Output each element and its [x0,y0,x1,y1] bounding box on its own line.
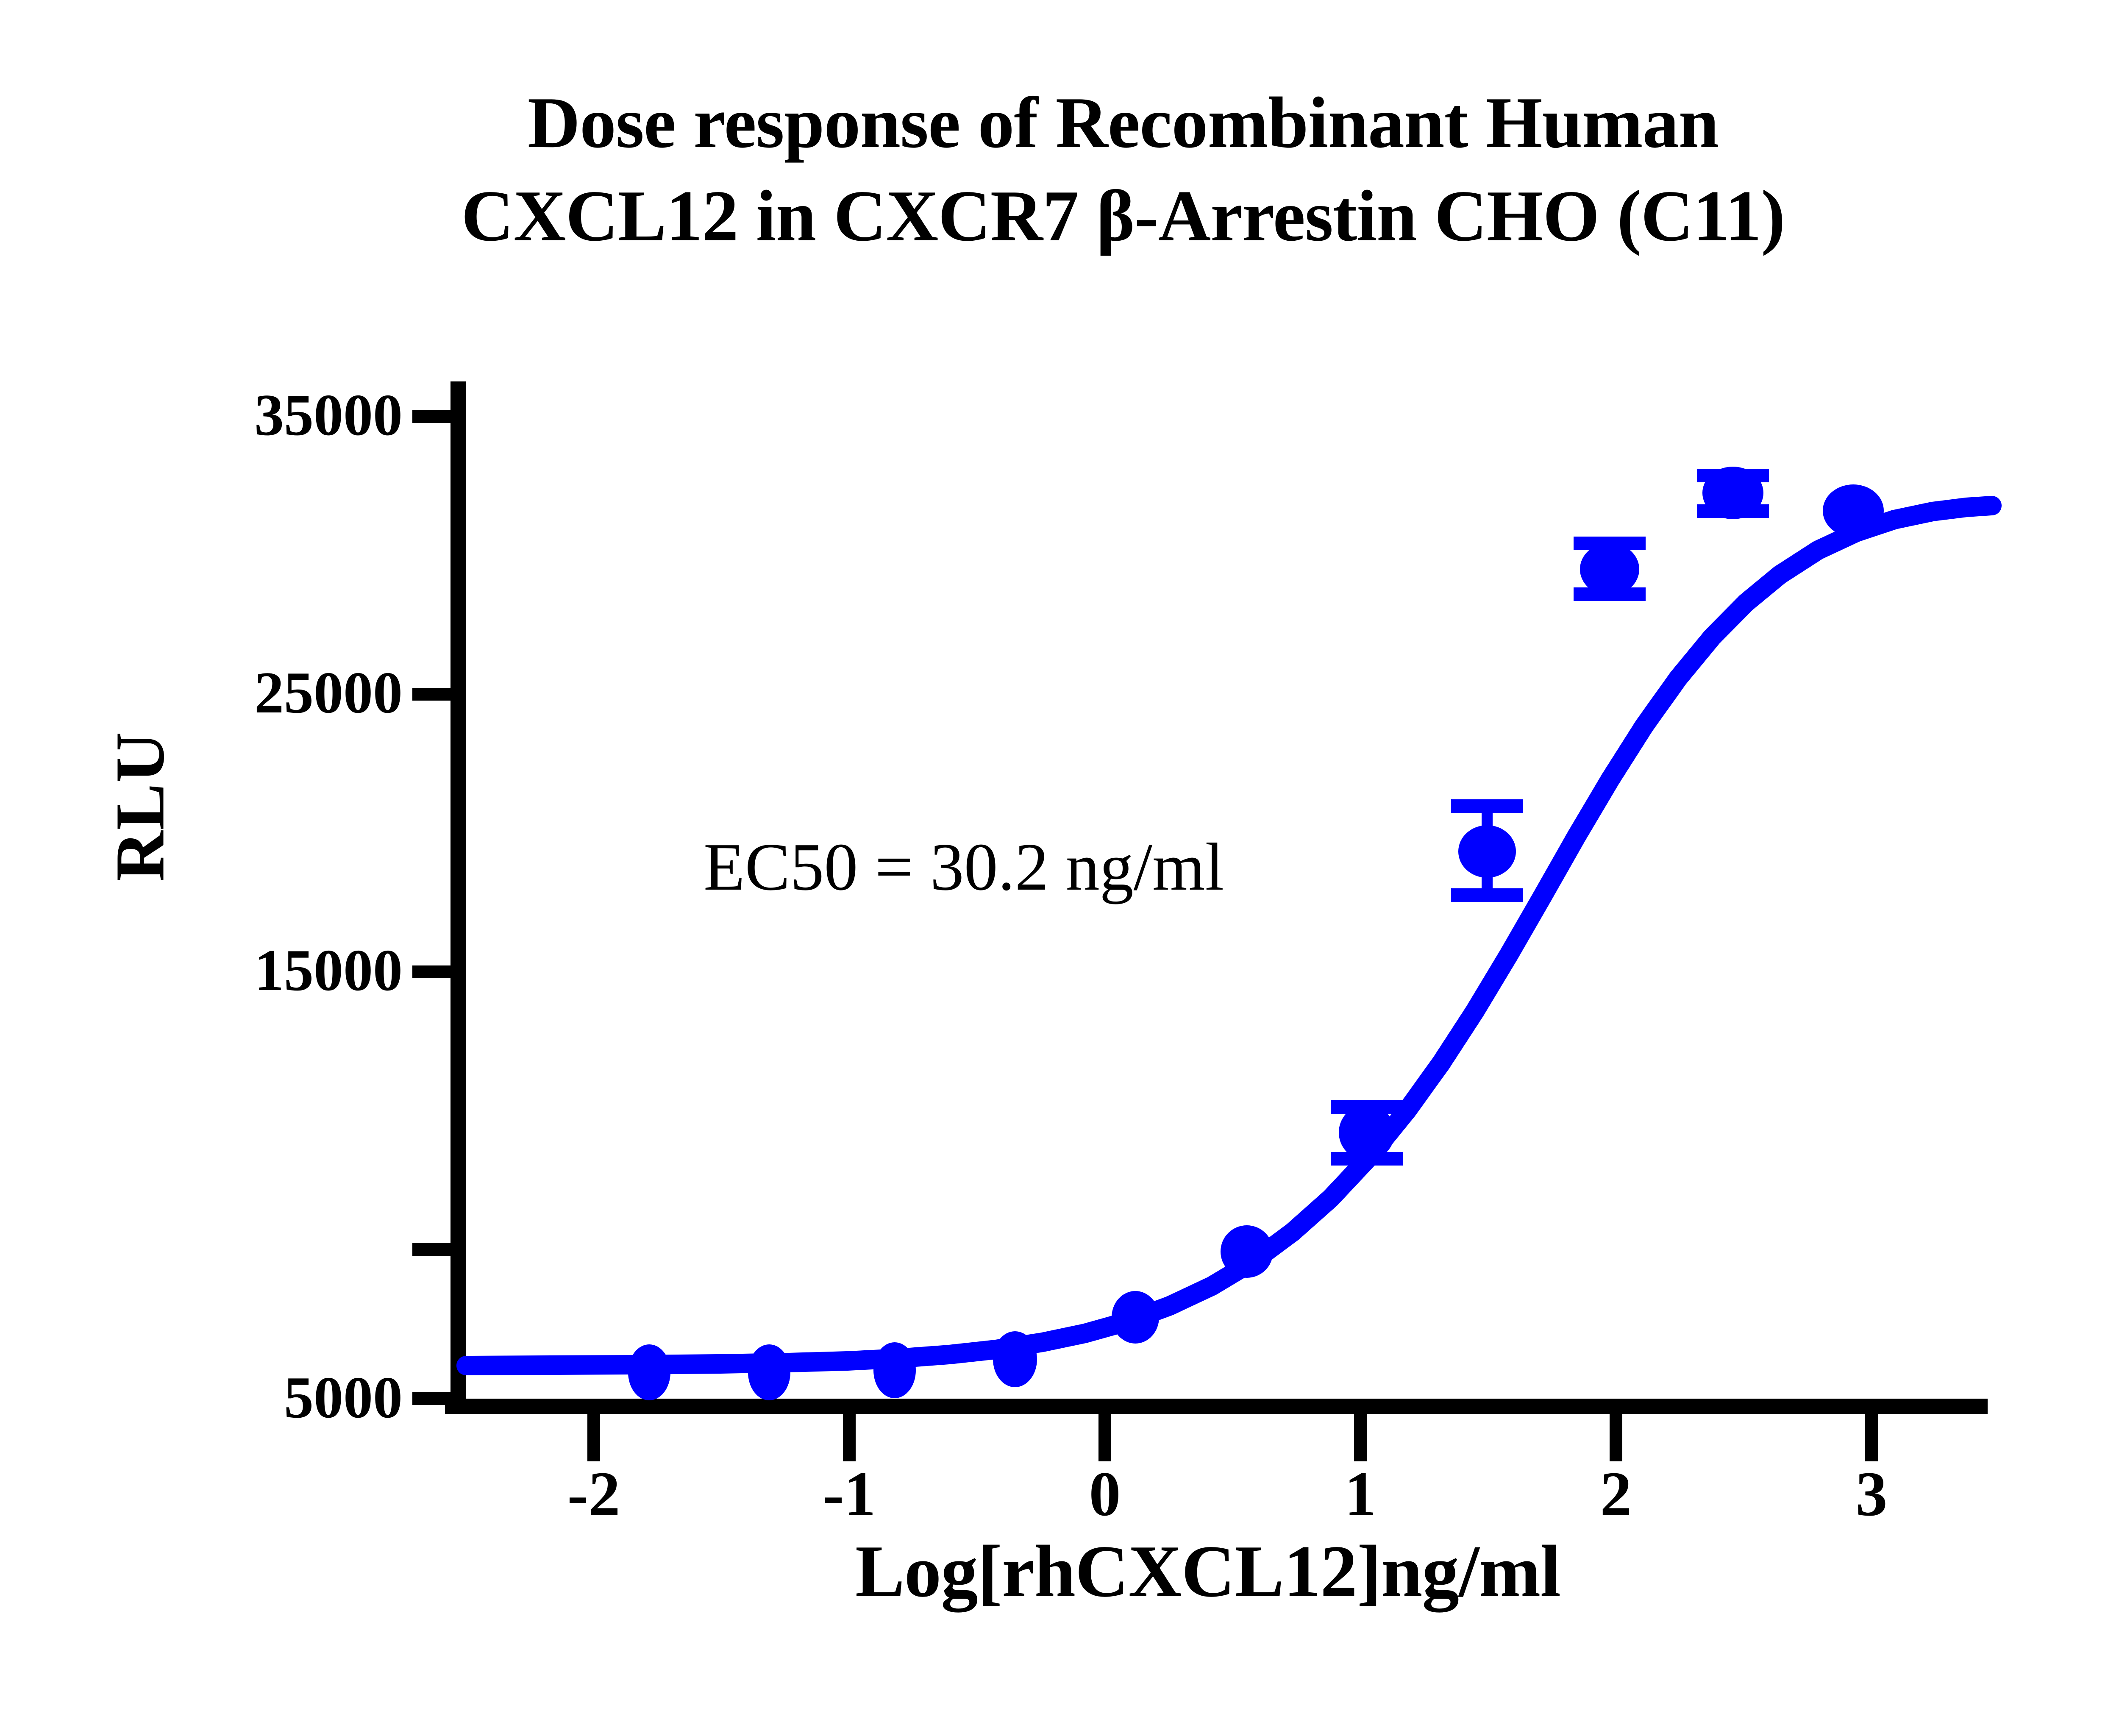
x-tick-label-0: 0 [1041,1462,1168,1526]
x-axis-title: Log[rhCXCL12]ng/ml [424,1534,1992,1608]
x-tick-label-1: 1 [1297,1462,1424,1526]
data-point [628,1344,670,1400]
data-point [1702,467,1763,519]
x-tick-label-neg1: -1 [786,1462,913,1526]
ec50-annotation: EC50 = 30.2 ng/ml [704,833,1224,901]
x-tick-0 [1098,1414,1111,1461]
data-point [1339,1104,1395,1160]
x-tick-label-2: 2 [1552,1462,1680,1526]
error-bar-cap-bottom [1451,888,1523,902]
x-tick-2 [1610,1414,1622,1461]
y-tick-label-5000: 5000 [106,1368,403,1427]
y-tick-15000 [412,965,451,978]
data-point [1221,1225,1273,1278]
y-tick-5000-upper [412,1243,451,1256]
data-point [1580,543,1639,595]
x-tick-3 [1865,1414,1878,1461]
y-tick-label-35000: 35000 [106,386,403,445]
x-tick-1 [1354,1414,1367,1461]
x-tick-neg1 [843,1414,856,1461]
y-axis-spine [450,381,466,1407]
data-point [993,1331,1037,1387]
data-point [1823,484,1884,537]
y-axis-title: RLU [105,616,175,997]
y-tick-35000 [412,410,451,423]
chart-figure: Dose response of Recombinant Human CXCL1… [0,0,2119,1736]
x-tick-label-neg2: -2 [530,1462,657,1526]
error-bar-cap-top [1451,799,1523,813]
y-tick-5000 [412,1392,451,1405]
data-point [873,1342,916,1398]
data-point [1458,825,1516,878]
data-point [1112,1291,1159,1344]
data-point [748,1344,790,1400]
data-markers [628,467,1884,1400]
x-tick-neg2 [587,1414,600,1461]
x-axis-spine [445,1399,1988,1414]
plot-area: 35000 25000 15000 5000 -2 -1 0 1 2 3 RLU… [0,0,2119,1736]
y-tick-25000 [412,688,451,701]
x-tick-label-3: 3 [1808,1462,1935,1526]
